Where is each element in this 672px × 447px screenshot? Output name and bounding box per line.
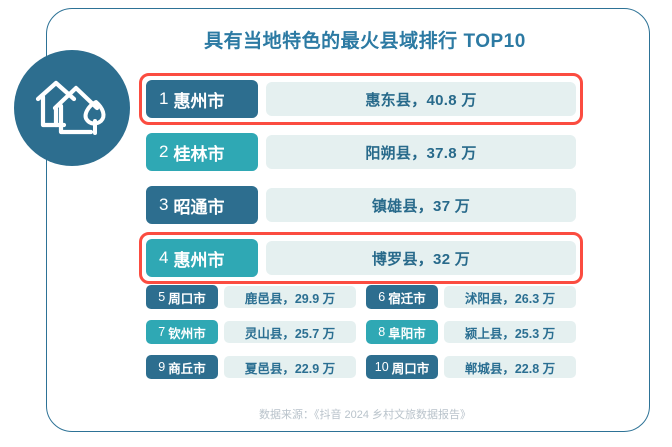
rank-city-badge: 5周口市: [146, 285, 218, 309]
rank-city-badge: 6宿迁市: [366, 285, 438, 309]
ranking-row[interactable]: 7钦州市灵山县，25.7 万: [146, 320, 356, 344]
rank-city-badge: 8阜阳市: [366, 320, 438, 344]
ranking-row-pair: 9商丘市夏邑县，22.9 万10周口市郸城县，22.8 万: [146, 355, 576, 379]
city-name: 周口市: [392, 358, 430, 377]
ranking-row[interactable]: 9商丘市夏邑县，22.9 万: [146, 355, 356, 379]
county-value: 惠东县，40.8 万: [266, 82, 576, 116]
rank-city-badge: 3昭通市: [146, 186, 258, 224]
county-value: 沭阳县，26.3 万: [444, 286, 576, 308]
top-ranking-list: 1惠州市惠东县，40.8 万2桂林市阳朔县，37.8 万3昭通市镇雄县，37 万…: [146, 80, 576, 292]
ranking-row[interactable]: 10周口市郸城县，22.8 万: [366, 355, 576, 379]
ranking-row[interactable]: 5周口市鹿邑县，29.9 万: [146, 285, 356, 309]
county-value: 博罗县，32 万: [266, 241, 576, 275]
ranking-row[interactable]: 1惠州市惠东县，40.8 万: [146, 80, 576, 118]
rank-number: 9: [158, 360, 165, 374]
rank-city-badge: 9商丘市: [146, 355, 218, 379]
data-source-note: 数据来源：《抖音 2024 乡村文旅数据报告》: [155, 406, 575, 422]
lower-ranking-list: 5周口市鹿邑县，29.9 万6宿迁市沭阳县，26.3 万7钦州市灵山县，25.7…: [146, 285, 576, 390]
county-value: 阳朔县，37.8 万: [266, 135, 576, 169]
county-value: 灵山县，25.7 万: [224, 321, 356, 343]
ranking-row-pair: 7钦州市灵山县，25.7 万8阜阳市颍上县，25.3 万: [146, 320, 576, 344]
city-name: 周口市: [168, 288, 206, 307]
rank-number: 3: [159, 195, 168, 215]
ranking-row[interactable]: 8阜阳市颍上县，25.3 万: [366, 320, 576, 344]
ranking-row-pair: 5周口市鹿邑县，29.9 万6宿迁市沭阳县，26.3 万: [146, 285, 576, 309]
city-name: 商丘市: [168, 358, 206, 377]
ranking-row[interactable]: 6宿迁市沭阳县，26.3 万: [366, 285, 576, 309]
rank-number: 5: [158, 290, 165, 304]
city-name: 惠州市: [173, 246, 224, 271]
rank-city-badge: 1惠州市: [146, 80, 258, 118]
county-value: 镇雄县，37 万: [266, 188, 576, 222]
rank-number: 6: [378, 290, 385, 304]
rank-number: 2: [159, 142, 168, 162]
rank-number: 1: [159, 89, 168, 109]
county-value: 鹿邑县，29.9 万: [224, 286, 356, 308]
rank-city-badge: 4惠州市: [146, 239, 258, 277]
city-name: 惠州市: [173, 87, 224, 112]
ranking-row[interactable]: 2桂林市阳朔县，37.8 万: [146, 133, 576, 171]
county-value: 郸城县，22.8 万: [444, 356, 576, 378]
city-name: 宿迁市: [388, 288, 426, 307]
ranking-row[interactable]: 4惠州市博罗县，32 万: [146, 239, 576, 277]
city-name: 昭通市: [173, 193, 224, 218]
city-name: 钦州市: [168, 323, 206, 342]
rank-number: 8: [378, 325, 385, 339]
page-title: 具有当地特色的最火县域排行 TOP10: [155, 26, 575, 53]
city-name: 阜阳市: [388, 323, 426, 342]
rank-city-badge: 10周口市: [366, 355, 438, 379]
infographic-root: 具有当地特色的最火县域排行 TOP10 1惠州市惠东县，40.8 万2桂林市阳朔…: [0, 0, 672, 447]
rank-number: 10: [375, 360, 389, 374]
house-tree-icon-badge: [14, 50, 130, 166]
ranking-row[interactable]: 3昭通市镇雄县，37 万: [146, 186, 576, 224]
house-tree-icon: [34, 75, 110, 141]
rank-number: 7: [158, 325, 165, 339]
county-value: 颍上县，25.3 万: [444, 321, 576, 343]
rank-city-badge: 2桂林市: [146, 133, 258, 171]
county-value: 夏邑县，22.9 万: [224, 356, 356, 378]
city-name: 桂林市: [173, 140, 224, 165]
rank-city-badge: 7钦州市: [146, 320, 218, 344]
rank-number: 4: [159, 248, 168, 268]
